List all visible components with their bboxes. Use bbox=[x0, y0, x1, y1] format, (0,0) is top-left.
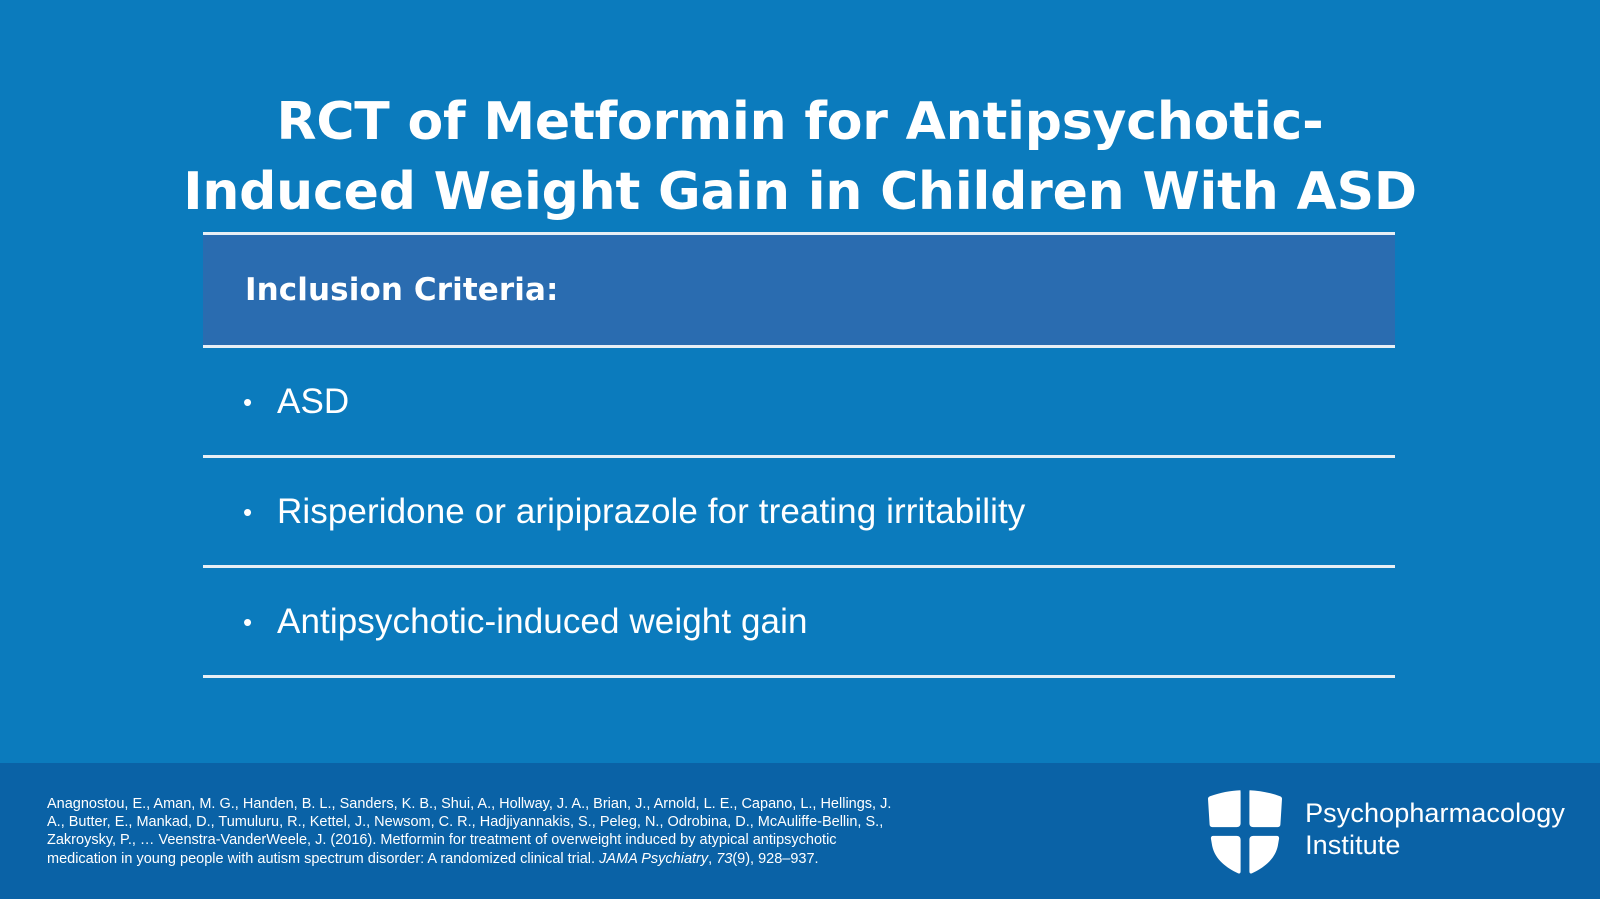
criteria-header-row: Inclusion Criteria: bbox=[203, 235, 1395, 345]
list-item-label: ASD bbox=[277, 382, 349, 422]
inclusion-criteria-table: Inclusion Criteria: • ASD • Risperidone … bbox=[203, 232, 1395, 678]
criteria-header-label: Inclusion Criteria: bbox=[245, 272, 559, 308]
divider-bottom bbox=[203, 675, 1395, 678]
list-item-label: Antipsychotic-induced weight gain bbox=[277, 602, 808, 642]
bullet-icon: • bbox=[243, 389, 277, 415]
bullet-icon: • bbox=[243, 609, 277, 635]
brand-logo: Psychopharmacology Institute bbox=[1203, 780, 1565, 880]
shield-cross-icon bbox=[1203, 784, 1287, 876]
citation-issue-pages: (9), 928–937. bbox=[732, 851, 818, 867]
list-item: • Risperidone or aripiprazole for treati… bbox=[203, 458, 1395, 565]
slide-canvas: RCT of Metformin for Antipsychotic-Induc… bbox=[0, 0, 1600, 899]
citation-text: Anagnostou, E., Aman, M. G., Handen, B. … bbox=[47, 795, 907, 869]
citation-volume: 73 bbox=[716, 851, 732, 867]
citation-separator: , bbox=[708, 851, 716, 867]
list-item: • Antipsychotic-induced weight gain bbox=[203, 568, 1395, 675]
brand-wordmark: Psychopharmacology Institute bbox=[1305, 798, 1565, 862]
list-item: • ASD bbox=[203, 348, 1395, 455]
citation-journal: JAMA Psychiatry bbox=[599, 851, 708, 867]
footer-band: Anagnostou, E., Aman, M. G., Handen, B. … bbox=[0, 763, 1600, 899]
page-title: RCT of Metformin for Antipsychotic-Induc… bbox=[170, 87, 1430, 227]
bullet-icon: • bbox=[243, 499, 277, 525]
list-item-label: Risperidone or aripiprazole for treating… bbox=[277, 492, 1025, 532]
